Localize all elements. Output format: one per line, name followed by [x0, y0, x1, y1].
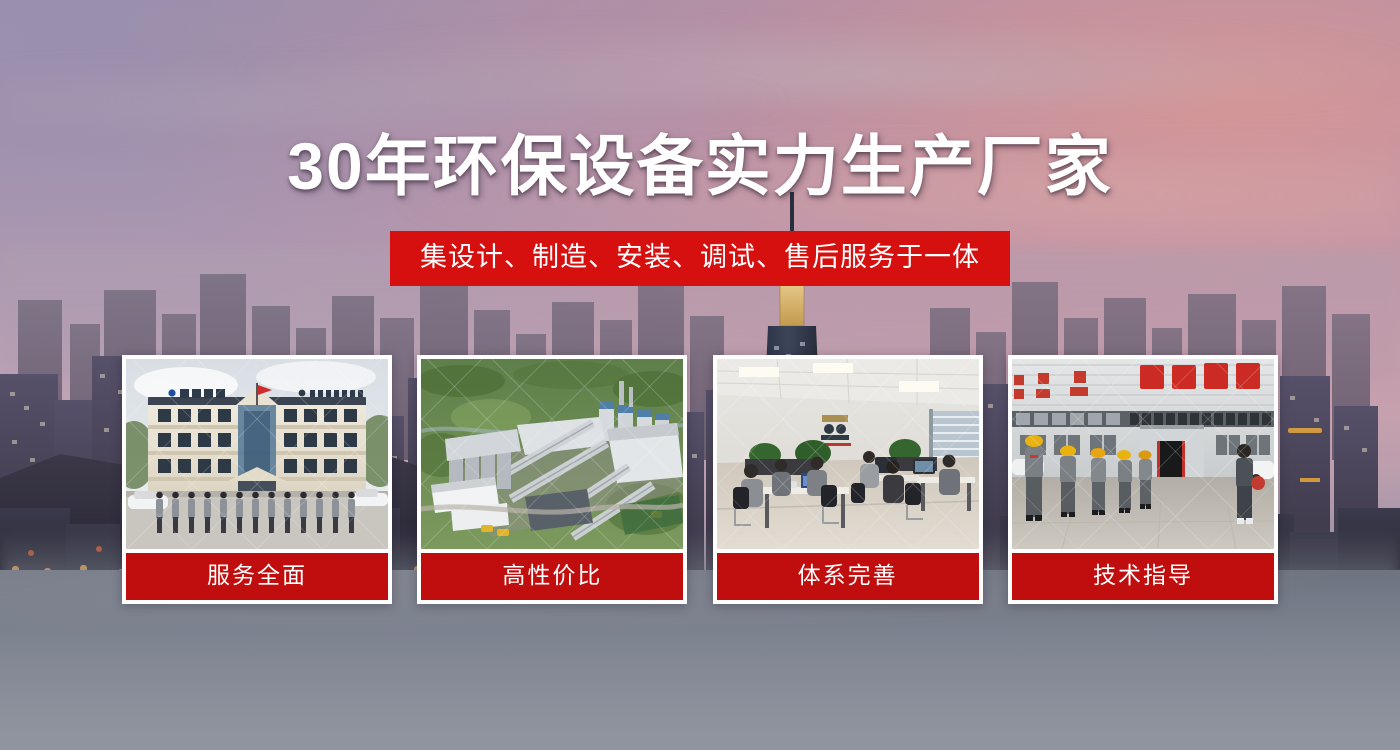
feature-card[interactable]: 服务全面: [122, 355, 392, 604]
feature-card[interactable]: 体系完善: [713, 355, 983, 604]
subtitle-banner-wrap: 集设计、制造、安装、调试、售后服务于一体: [0, 231, 1400, 286]
feature-card[interactable]: 高性价比: [417, 355, 687, 604]
feature-card-row: 服务全面: [122, 355, 1278, 604]
card-caption: 技术指导: [1012, 553, 1274, 600]
card-caption: 服务全面: [126, 553, 388, 600]
page-title: 30年环保设备实力生产厂家: [0, 132, 1400, 202]
card-photo-workers-training: [1012, 359, 1274, 549]
card-caption: 体系完善: [717, 553, 979, 600]
card-photo-industrial-plant: [421, 359, 683, 549]
subtitle-banner: 集设计、制造、安装、调试、售后服务于一体: [390, 231, 1010, 286]
card-caption: 高性价比: [421, 553, 683, 600]
promotional-banner: 30年环保设备实力生产厂家 集设计、制造、安装、调试、售后服务于一体: [0, 0, 1400, 750]
card-photo-office-interior: [717, 359, 979, 549]
card-photo-headquarters: [126, 359, 388, 549]
feature-card[interactable]: 技术指导: [1008, 355, 1278, 604]
